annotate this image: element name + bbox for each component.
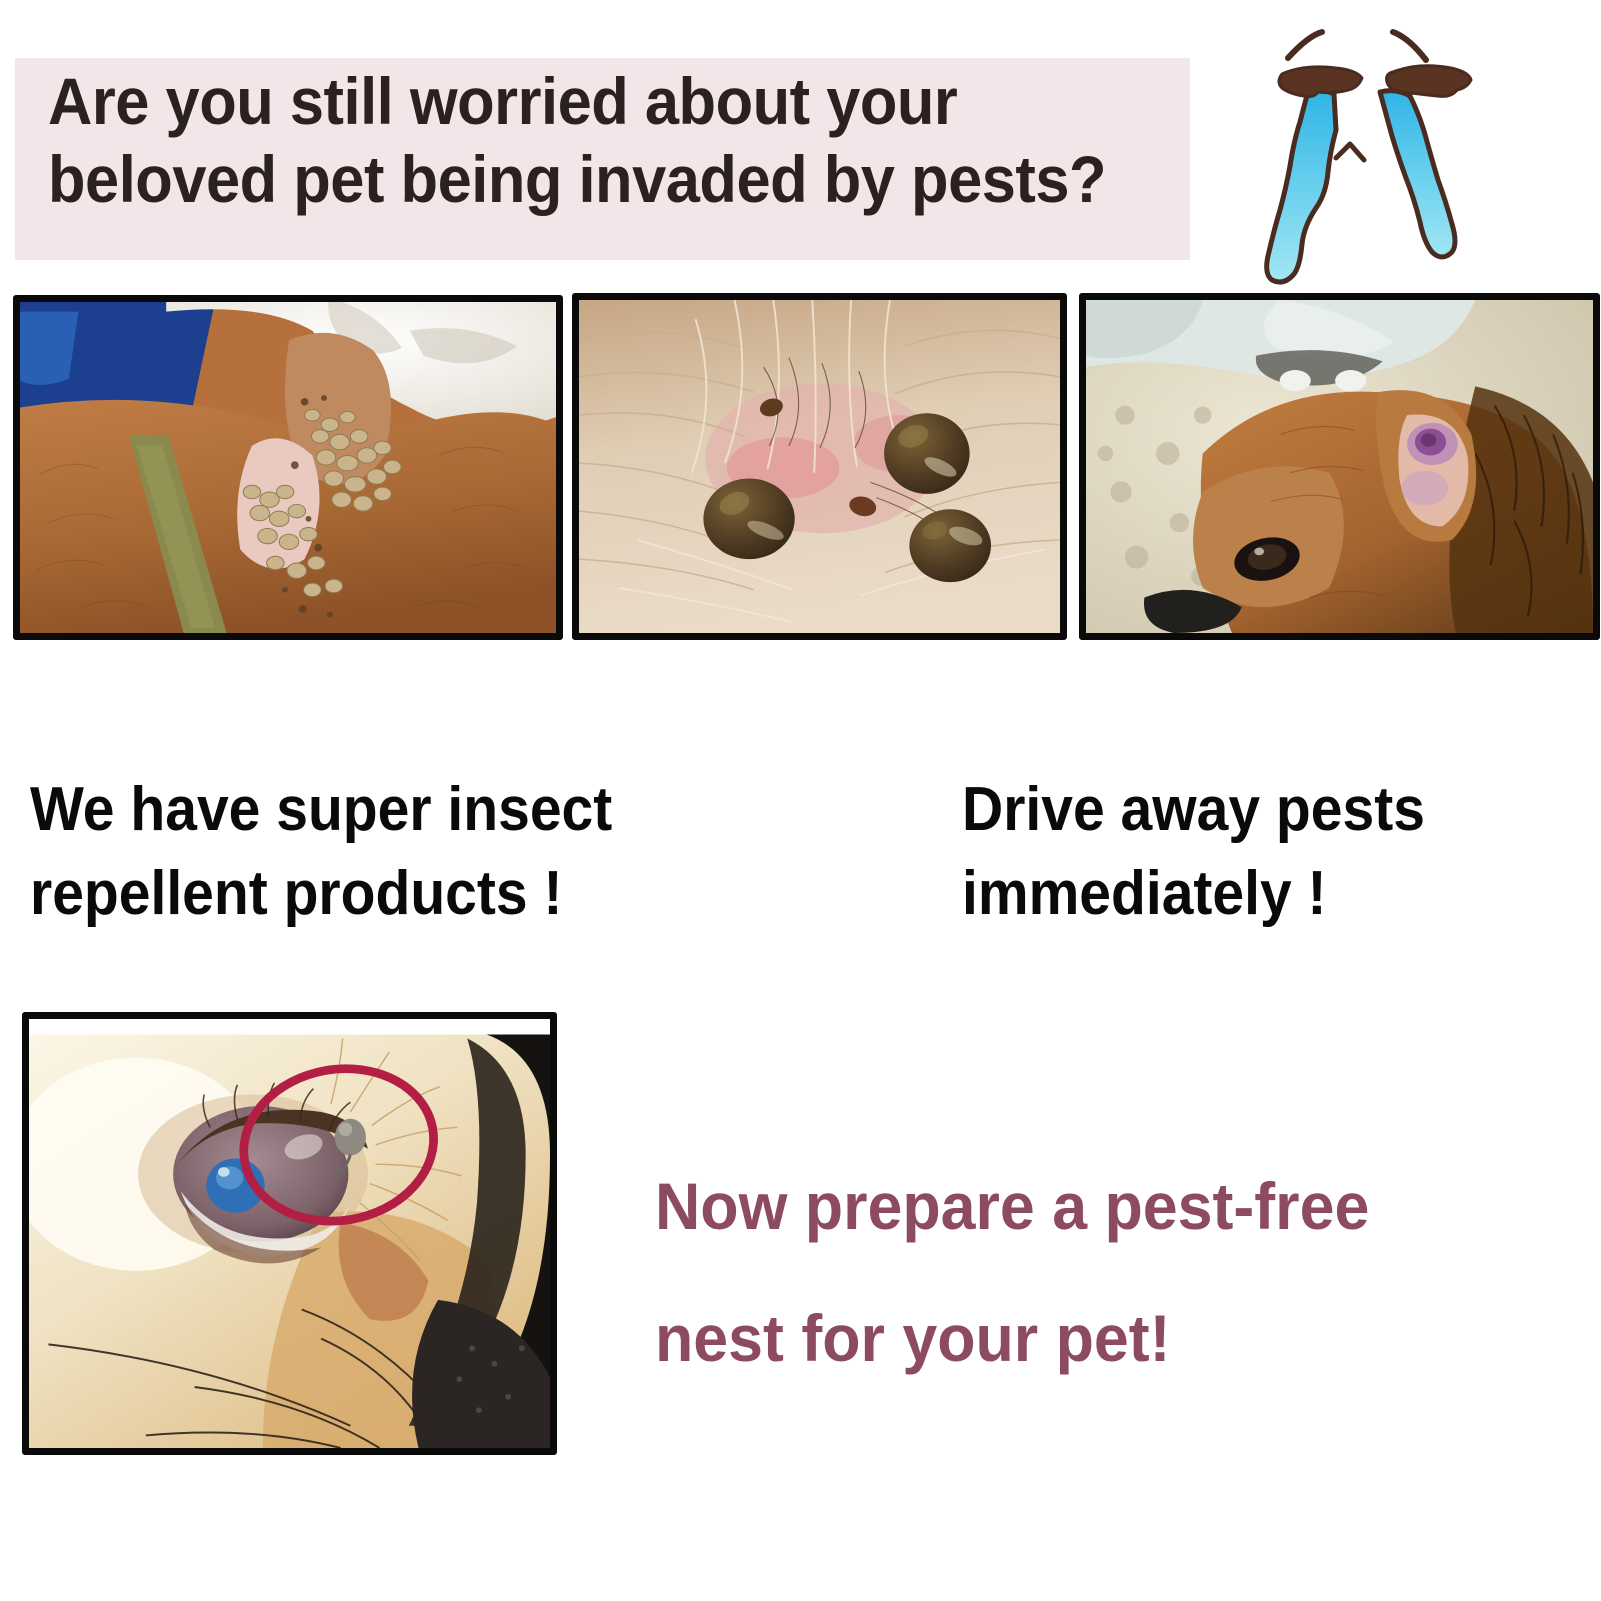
engorged-tick-bottom-right <box>909 509 991 582</box>
tagline-right-text: Drive away pests immediately ! <box>962 768 1477 936</box>
left-tear-icon <box>1267 90 1336 282</box>
promo-canvas: Are you still worried about your beloved… <box>0 0 1601 1601</box>
crying-face-icon <box>1208 0 1601 290</box>
left-eyebrow-icon <box>1288 32 1322 58</box>
photo-3-inner <box>1086 300 1593 633</box>
photo-engorged-ticks-closeup <box>572 293 1067 640</box>
photo-4-illustration <box>29 1019 550 1448</box>
photo-4-inner <box>29 1019 550 1448</box>
headline-text: Are you still worried about your beloved… <box>48 62 1127 218</box>
photo-tick-near-eye <box>22 1012 557 1455</box>
right-eye-icon <box>1387 66 1471 97</box>
photo-1-inner <box>20 302 556 633</box>
photo-dog-ear-wound <box>1079 293 1600 640</box>
engorged-tick-top-right <box>884 413 970 494</box>
right-tear-icon <box>1380 91 1455 257</box>
closing-text: Now prepare a pest-free nest for your pe… <box>655 1140 1510 1404</box>
engorged-tick-left <box>703 478 794 559</box>
photo-tick-infested-ear <box>13 295 563 640</box>
mouth-icon <box>1336 144 1364 160</box>
tick-near-eye <box>335 1119 366 1156</box>
photo-1-illustration <box>20 302 556 633</box>
crying-face-svg <box>1208 0 1601 290</box>
photo-2-illustration <box>579 300 1060 633</box>
photo-2-inner <box>579 300 1060 633</box>
left-eye-icon <box>1279 67 1362 97</box>
right-eyebrow-icon <box>1393 32 1426 60</box>
tagline-left-text: We have super insect repellent products … <box>30 768 619 936</box>
photo-3-illustration <box>1086 300 1593 633</box>
